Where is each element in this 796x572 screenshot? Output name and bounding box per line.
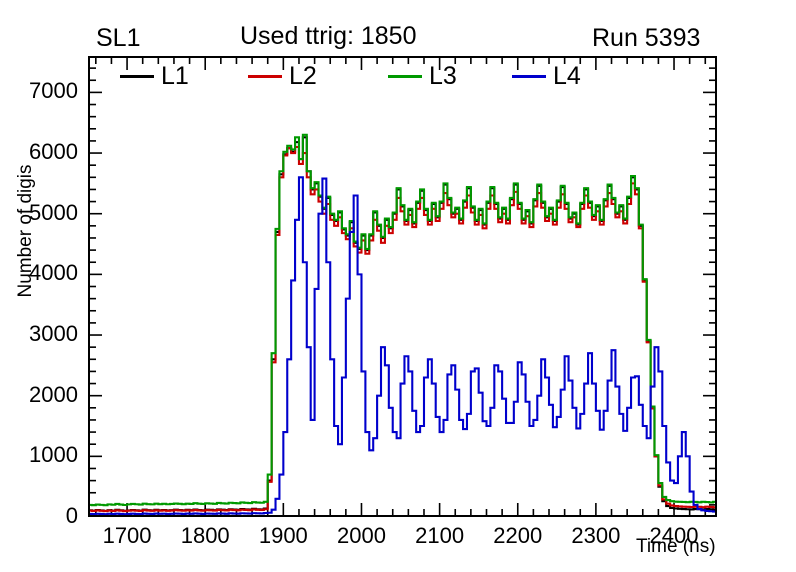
run-number-label: Run 5393 [592,24,700,53]
x-tick-label: 1700 [82,523,172,549]
plot-frame [88,56,717,517]
y-tick-label: 0 [0,503,78,529]
superlayer-label: SL1 [96,24,140,53]
ttrig-label: Used ttrig: 1850 [240,22,417,51]
y-tick-label: 2000 [0,382,78,408]
chart-page: SL1 Used ttrig: 1850 Run 5393 Number of … [0,0,796,572]
x-tick-label: 2300 [551,523,641,549]
x-tick-label: 2000 [316,523,406,549]
y-tick-label: 5000 [0,200,78,226]
x-tick-label: 2100 [395,523,485,549]
x-tick-label: 2200 [473,523,563,549]
y-tick-label: 7000 [0,78,78,104]
x-tick-label: 1900 [238,523,328,549]
x-tick-label: 2400 [629,523,719,549]
y-tick-label: 3000 [0,321,78,347]
y-tick-label: 4000 [0,260,78,286]
y-tick-label: 6000 [0,139,78,165]
x-tick-label: 1800 [160,523,250,549]
plot-area [88,56,717,517]
y-tick-label: 1000 [0,442,78,468]
